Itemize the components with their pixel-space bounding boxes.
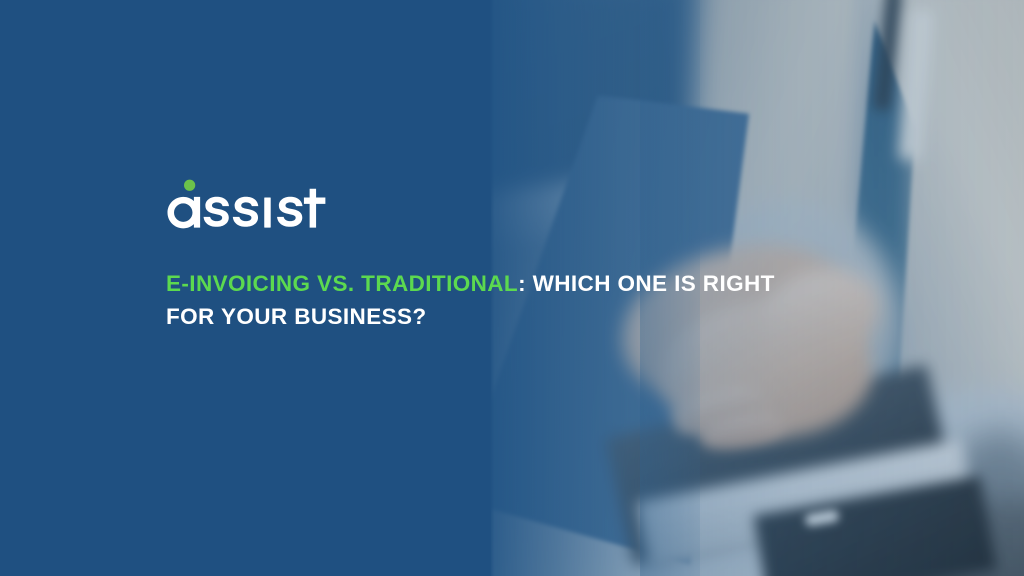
- banner-content: E-INVOICING VS. TRADITIONAL: WHICH ONE I…: [166, 176, 806, 333]
- assist-logo: [166, 176, 340, 232]
- blog-banner: E-INVOICING VS. TRADITIONAL: WHICH ONE I…: [0, 0, 1024, 576]
- logo-green-dot-icon: [184, 180, 195, 191]
- logo-wordmark: [168, 189, 326, 229]
- headline: E-INVOICING VS. TRADITIONAL: WHICH ONE I…: [166, 268, 806, 333]
- headline-accent-text: E-INVOICING VS. TRADITIONAL: [166, 271, 518, 296]
